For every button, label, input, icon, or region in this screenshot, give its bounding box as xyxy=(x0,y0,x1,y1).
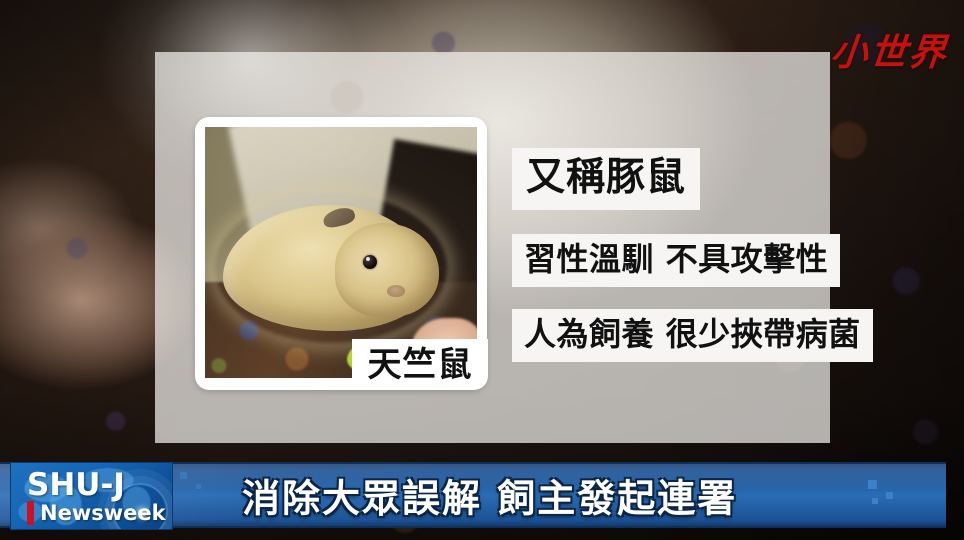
photo-caption-bubble: 天竺鼠 xyxy=(352,339,488,390)
guinea-pig-head xyxy=(335,223,439,317)
guinea-pig-eye-glint xyxy=(366,257,370,261)
station-logo: SHU-J Newsweek xyxy=(10,462,173,530)
fact-list: 又稱豚鼠 習性溫馴 不具攻擊性 人為飼養 很少挾帶病菌 xyxy=(512,148,873,362)
headline-text: 消除大眾誤解 飼主發起連署 xyxy=(242,468,737,523)
channel-watermark: 小世界 xyxy=(828,22,951,76)
guinea-pig-eye xyxy=(363,255,377,269)
fact-line-1: 又稱豚鼠 xyxy=(512,148,700,210)
logo-primary-text: SHU-J xyxy=(27,467,125,503)
logo-secondary-text: Newsweek xyxy=(40,501,166,525)
fact-line-2: 習性溫馴 不具攻擊性 xyxy=(512,234,840,287)
logo-red-bar-icon xyxy=(27,501,34,525)
fact-line-3: 人為飼養 很少挾帶病菌 xyxy=(512,309,873,362)
logo-secondary-row: Newsweek xyxy=(27,501,166,525)
broadcast-screenshot: 天竺鼠 又稱豚鼠 習性溫馴 不具攻擊性 人為飼養 很少挾帶病菌 小世界 消除大眾… xyxy=(0,0,964,540)
guinea-pig-nose xyxy=(387,285,405,297)
photo-caption-text: 天竺鼠 xyxy=(368,348,473,382)
